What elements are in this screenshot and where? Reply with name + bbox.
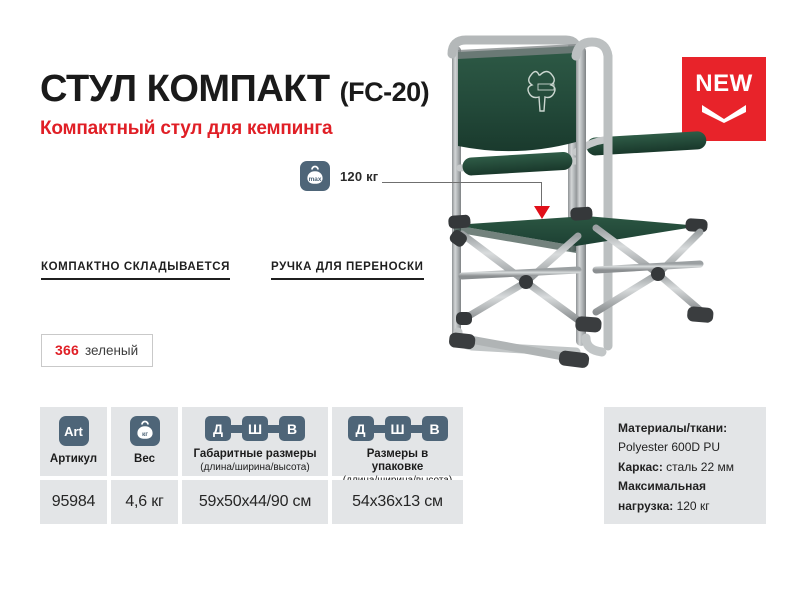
- callout-arrow-icon: [534, 206, 550, 219]
- color-code: 366: [55, 342, 79, 358]
- spec-column-package: Д Ш В Размеры в упаковке (длина/ширина/в…: [332, 407, 463, 524]
- feature-label-folding: КОМПАКТНО СКЛАДЫВАЕТСЯ: [41, 261, 230, 280]
- svg-text:max: max: [309, 176, 322, 183]
- spec-column-dimensions: Д Ш В Габаритные размеры (длина/ширина/в…: [182, 407, 328, 524]
- title-line: СТУЛ КОМПАКТ (FC-20): [40, 68, 429, 111]
- spec-value-dimensions: 59x50x44/90 см: [199, 493, 311, 511]
- art-icon-text: Art: [64, 424, 83, 439]
- materials-maxload-label1: Максимальная: [618, 479, 706, 493]
- spec-header-weight: кг Вес: [111, 407, 178, 476]
- materials-maxload-line2: нагрузка: 120 кг: [618, 497, 752, 516]
- spec-label-weight: Вес: [134, 453, 155, 466]
- dwh-icon-width: Ш: [385, 416, 411, 441]
- spec-header-dimensions: Д Ш В Габаритные размеры (длина/ширина/в…: [182, 407, 328, 476]
- dwh-icon-link: [411, 425, 422, 433]
- weight-icon: кг: [130, 416, 160, 446]
- camping-chair-photo: [400, 20, 740, 410]
- materials-frame-value: сталь 22 мм: [663, 460, 734, 474]
- spec-column-weight: кг Вес 4,6 кг: [111, 407, 178, 524]
- dwh-icon: Д Ш В: [348, 416, 448, 441]
- dwh-icon-height: В: [279, 416, 305, 441]
- title-block: СТУЛ КОМПАКТ (FC-20) Компактный стул для…: [40, 68, 429, 140]
- materials-frame: Каркас: сталь 22 мм: [618, 458, 752, 477]
- product-spec-sheet: СТУЛ КОМПАКТ (FC-20) Компактный стул для…: [0, 0, 800, 600]
- materials-maxload-label2: нагрузка:: [618, 499, 673, 513]
- dwh-icon-link: [374, 425, 385, 433]
- spec-sublabel-dimensions: (длина/ширина/высота): [200, 462, 309, 474]
- page-title: СТУЛ КОМПАКТ: [40, 68, 330, 111]
- art-icon: Art: [59, 416, 89, 446]
- max-load-value: 120 кг: [340, 169, 378, 184]
- materials-panel: Материалы/ткани: Polyester 600D PU Карка…: [604, 407, 766, 524]
- spec-value-weight-cell: 4,6 кг: [111, 480, 178, 524]
- dwh-icon-height: В: [422, 416, 448, 441]
- dwh-icon-length: Д: [205, 416, 231, 441]
- materials-title: Материалы/ткани:: [618, 419, 752, 438]
- spec-value-weight: 4,6 кг: [125, 493, 163, 511]
- callout-leader-drop: [541, 182, 542, 209]
- materials-frame-label: Каркас:: [618, 460, 663, 474]
- spec-value-article-cell: 95984: [40, 480, 107, 524]
- spec-value-package-cell: 54x36x13 см: [332, 480, 463, 524]
- max-load-icon: max: [300, 161, 330, 191]
- materials-maxload-value: 120 кг: [673, 499, 709, 513]
- callout-leader-line: [382, 182, 542, 183]
- materials-fabric: Polyester 600D PU: [618, 438, 752, 457]
- spec-table: Art Артикул 95984 кг Вес 4,6: [40, 407, 467, 524]
- dwh-icon-link: [231, 425, 242, 433]
- spec-column-article: Art Артикул 95984: [40, 407, 107, 524]
- color-name: зеленый: [85, 343, 138, 358]
- color-swatch: 366 зеленый: [41, 334, 153, 367]
- spec-value-dimensions-cell: 59x50x44/90 см: [182, 480, 328, 524]
- spec-label-package: Размеры в упаковке: [340, 448, 455, 474]
- materials-title-text: Материалы/ткани:: [618, 421, 727, 435]
- spec-label-article: Артикул: [50, 453, 97, 466]
- spec-label-dimensions: Габаритные размеры: [193, 448, 316, 461]
- feature-label-handle: РУЧКА ДЛЯ ПЕРЕНОСКИ: [271, 261, 424, 280]
- spec-value-package: 54x36x13 см: [352, 493, 443, 511]
- svg-text:кг: кг: [141, 431, 147, 438]
- dwh-icon-width: Ш: [242, 416, 268, 441]
- spec-header-package: Д Ш В Размеры в упаковке (длина/ширина/в…: [332, 407, 463, 476]
- spec-value-article: 95984: [52, 493, 96, 511]
- dwh-icon-link: [268, 425, 279, 433]
- materials-maxload-line1: Максимальная: [618, 477, 752, 496]
- page-subtitle: Компактный стул для кемпинга: [40, 118, 429, 140]
- dwh-icon: Д Ш В: [205, 416, 305, 441]
- spec-header-article: Art Артикул: [40, 407, 107, 476]
- max-load-callout: max 120 кг: [300, 161, 378, 191]
- dwh-icon-length: Д: [348, 416, 374, 441]
